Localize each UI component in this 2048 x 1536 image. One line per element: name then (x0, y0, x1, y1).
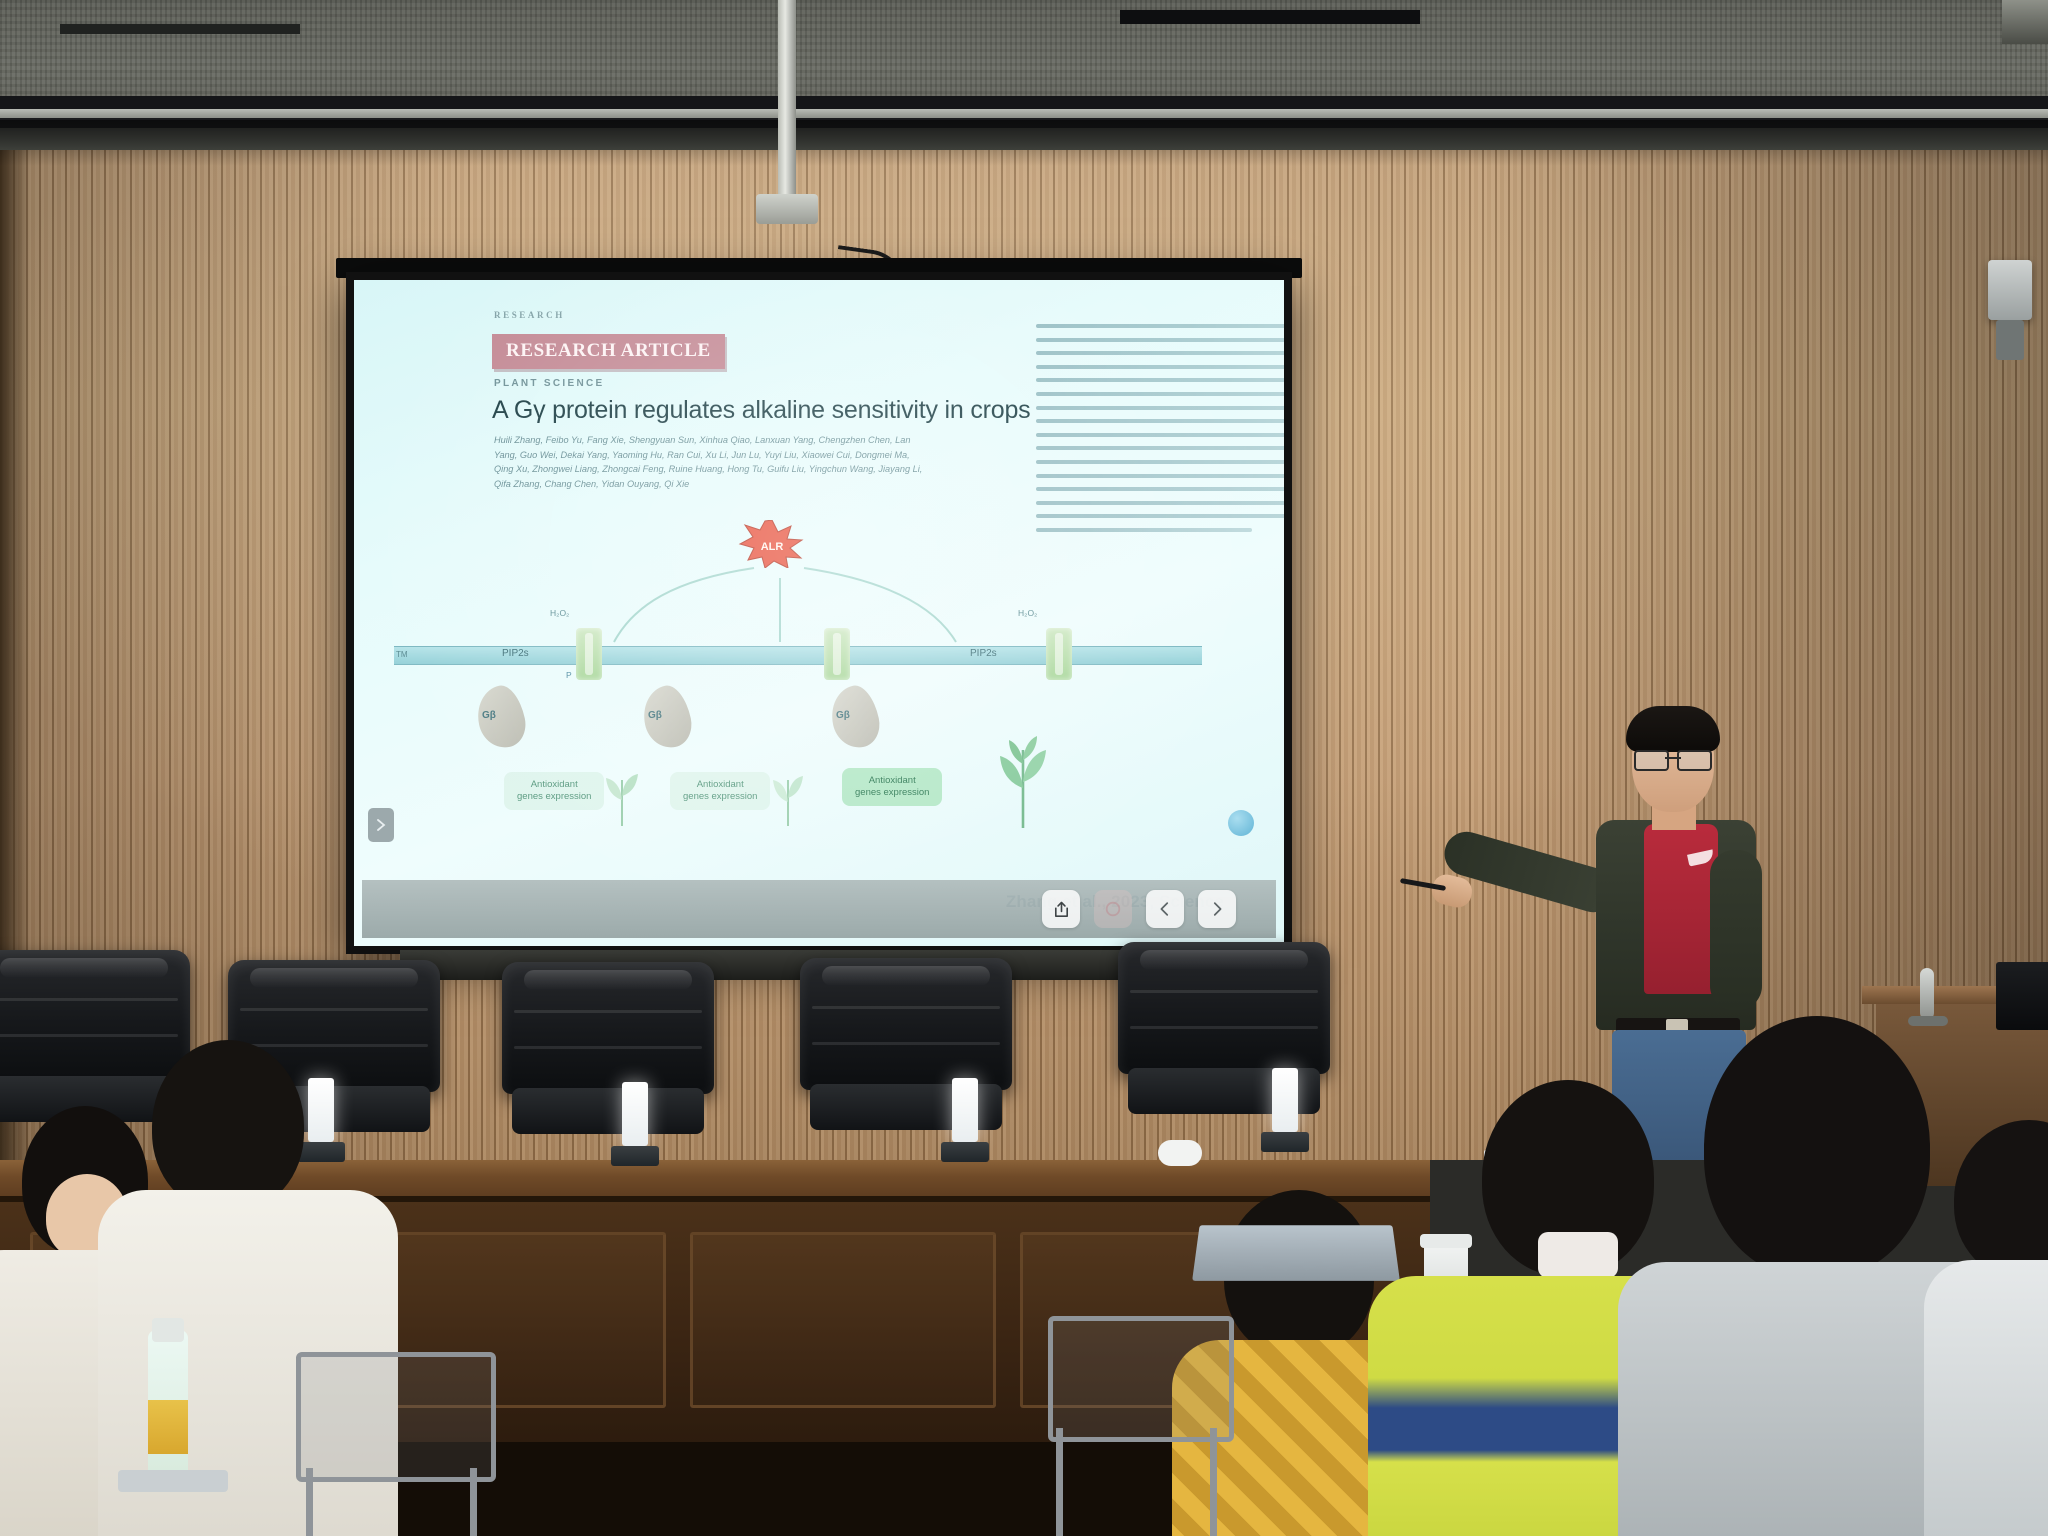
share-icon (1052, 900, 1071, 919)
presenter-glasses (1634, 750, 1712, 767)
projector-mount (756, 194, 818, 224)
plant-icon-1 (602, 756, 642, 826)
ceiling-corner-duct (2002, 0, 2048, 44)
antioxidant-line1: Antioxidant (531, 779, 578, 790)
student-hair (1704, 1016, 1930, 1278)
antioxidant-line1: Antioxidant (869, 775, 916, 786)
desk-lamp (952, 1078, 978, 1142)
lecture-hall-scene: RESEARCH RESEARCH ARTICLE PLANT SCIENCE … (0, 0, 2048, 1536)
next-slide-button[interactable] (1198, 890, 1236, 928)
student-hair (1954, 1120, 2048, 1280)
desk-chair-back (296, 1352, 496, 1482)
faded-round-icon (1104, 900, 1122, 918)
bottle-label (148, 1400, 188, 1454)
gbeta-protein-2 (638, 682, 696, 752)
author-list: Huili Zhang, Feibo Yu, Fang Xie, Shengyu… (494, 433, 924, 491)
pip2s-label-3: PIP2s (970, 648, 997, 659)
membrane-left-label: TM (396, 650, 408, 659)
gbeta-label-1: Gβ (482, 710, 496, 721)
desk-tray (118, 1470, 228, 1492)
wall-mounted-panel (1988, 260, 2032, 320)
presenter-left-arm (1710, 850, 1762, 1010)
antioxidant-line1: Antioxidant (697, 779, 744, 790)
chevron-left-icon (1156, 900, 1174, 918)
ghost-round-button[interactable] (1094, 890, 1132, 928)
gbeta-protein-3 (826, 682, 884, 752)
gbeta-label-2: Gβ (648, 710, 662, 721)
ceiling-beam-upper (0, 96, 2048, 109)
journal-running-head: RESEARCH (494, 310, 565, 320)
conference-chair[interactable] (1118, 942, 1330, 1132)
ceiling-vent-secondary (60, 24, 300, 34)
microphone (1920, 968, 1934, 1020)
wall-mounted-bracket (1996, 320, 2024, 360)
table-panel (690, 1232, 996, 1408)
antioxidant-outcome-3: Antioxidant genes expression (842, 768, 942, 806)
desk-lamp-base (611, 1146, 659, 1166)
bottle-cap (152, 1318, 184, 1342)
desk-lamp (1272, 1068, 1298, 1132)
projection-screen: RESEARCH RESEARCH ARTICLE PLANT SCIENCE … (346, 272, 1292, 954)
antioxidant-line2: genes expression (683, 791, 757, 802)
desk-lamp-base (941, 1142, 989, 1162)
section-label: PLANT SCIENCE (494, 378, 604, 389)
student-jacket (1924, 1260, 2048, 1536)
student-hair (152, 1040, 304, 1212)
presenter-hair (1626, 706, 1720, 752)
phospho-label-1: P (566, 670, 572, 680)
mouse[interactable] (1158, 1140, 1202, 1166)
desk-chair-back (1048, 1316, 1234, 1442)
desk-lamp (622, 1082, 648, 1146)
h2o2-label-1: H₂O₂ (550, 608, 569, 618)
previous-slide-button[interactable] (1146, 890, 1184, 928)
h2o2-label-2: H₂O₂ (1018, 608, 1037, 618)
student-desk-chair[interactable] (296, 1352, 506, 1536)
chevron-right-icon (1208, 900, 1226, 918)
gbeta-label-3: Gβ (836, 710, 850, 721)
slide-status-dot[interactable] (1228, 810, 1254, 836)
article-title: A Gγ protein regulates alkaline sensitiv… (492, 396, 1030, 425)
desk-lamp-base (1261, 1132, 1309, 1152)
conference-chair[interactable] (800, 958, 1012, 1148)
antioxidant-outcome-2: Antioxidant genes expression (670, 772, 770, 810)
research-article-badge: RESEARCH ARTICLE (492, 334, 725, 369)
signalling-diagram: TM ALR PIP2s H₂O₂ (354, 530, 1284, 870)
ceiling-rail (0, 109, 2048, 118)
screen-surface: RESEARCH RESEARCH ARTICLE PLANT SCIENCE … (354, 280, 1284, 946)
pip2-channel-3 (1046, 628, 1072, 680)
ceiling-shadow (0, 120, 2048, 166)
gbeta-protein-1 (472, 682, 530, 752)
antioxidant-outcome-1: Antioxidant genes expression (504, 772, 604, 810)
antioxidant-line2: genes expression (517, 791, 591, 802)
share-button[interactable] (1042, 890, 1080, 928)
projector-pole (778, 0, 796, 200)
pip2s-label-1: PIP2s (502, 648, 529, 659)
slide-content: RESEARCH RESEARCH ARTICLE PLANT SCIENCE … (354, 280, 1284, 946)
chevron-right-handle-icon (375, 818, 387, 832)
slide-drawer-handle[interactable] (368, 808, 394, 842)
pip2-channel-1 (576, 628, 602, 680)
pip2-channel-2 (824, 628, 850, 680)
antioxidant-line2: genes expression (855, 787, 929, 798)
plant-icon-2 (768, 756, 808, 826)
student-desk-chair[interactable] (1048, 1316, 1238, 1536)
conference-chair[interactable] (502, 962, 714, 1152)
slide-control-bar (362, 880, 1276, 938)
plant-icon-3 (994, 730, 1052, 828)
abstract-column (1036, 324, 1284, 542)
ceiling-vent (1120, 10, 1420, 24)
student-far-right-edge (1944, 1120, 2048, 1536)
